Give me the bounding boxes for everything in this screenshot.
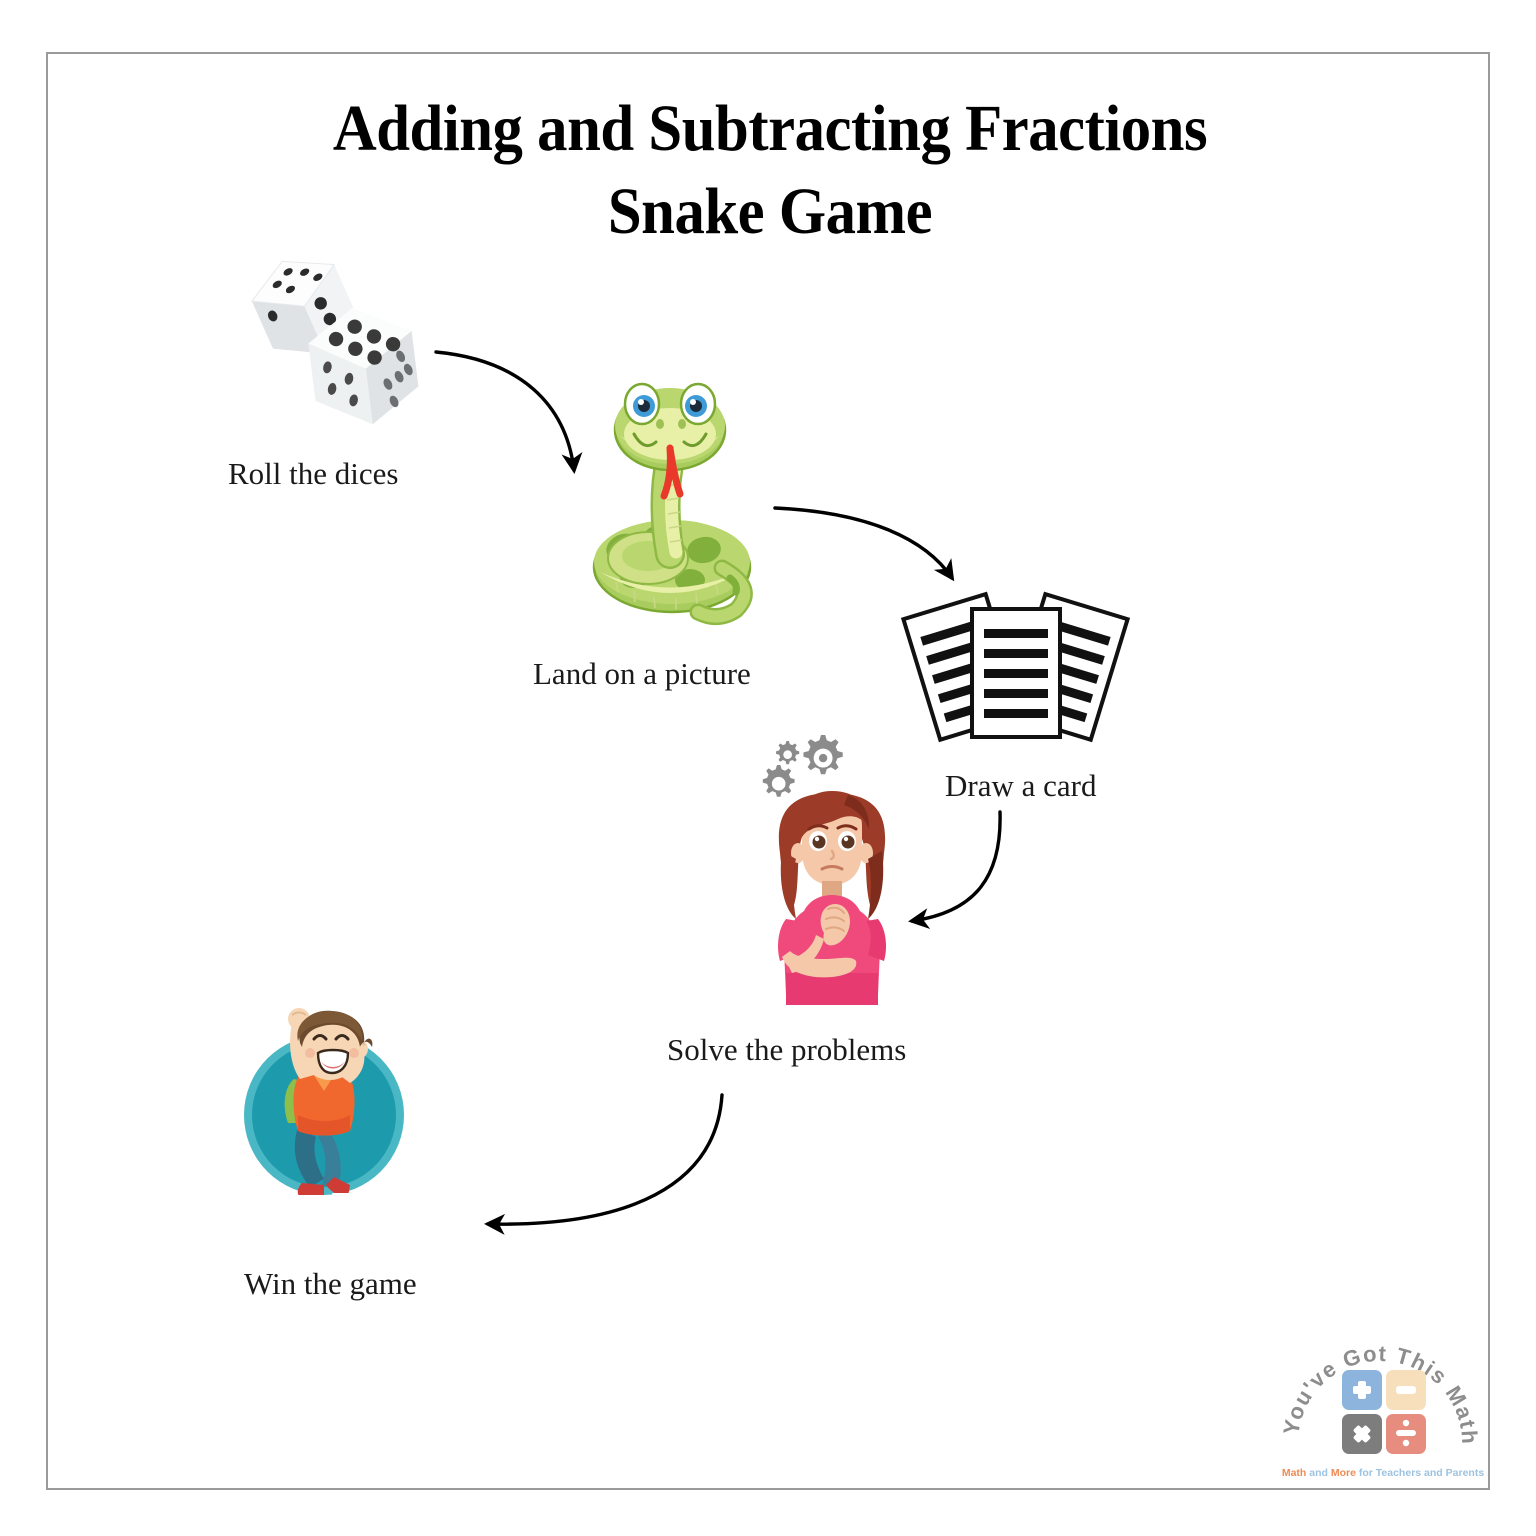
dice-pair-icon bbox=[236, 244, 436, 429]
step-label-solve-the-problems: Solve the problems bbox=[667, 1032, 906, 1068]
brand-logo: You've Got This Math bbox=[1288, 1328, 1478, 1493]
snake-icon bbox=[572, 372, 772, 622]
gears-icon bbox=[763, 735, 843, 797]
thinking-girl-icon bbox=[752, 733, 912, 1008]
arrow-girl-to-boy bbox=[488, 1095, 722, 1224]
logo-operator-tiles bbox=[1342, 1370, 1426, 1454]
step-label-roll-the-dices: Roll the dices bbox=[228, 456, 398, 492]
logo-tagline: Math and More for Teachers and Parents bbox=[1282, 1467, 1484, 1479]
worksheet-canvas: Adding and Subtracting Fractions Snake G… bbox=[0, 0, 1536, 1536]
arrow-dice-to-snake bbox=[436, 352, 574, 470]
step-label-win-the-game: Win the game bbox=[244, 1266, 417, 1302]
step-label-land-on-a-picture: Land on a picture bbox=[533, 656, 751, 692]
arrow-cards-to-girl bbox=[912, 812, 1000, 921]
arrow-snake-to-cards bbox=[775, 508, 952, 578]
step-label-draw-a-card: Draw a card bbox=[945, 768, 1096, 804]
celebrating-boy-icon bbox=[232, 995, 412, 1210]
cards-stack-icon bbox=[908, 585, 1123, 755]
